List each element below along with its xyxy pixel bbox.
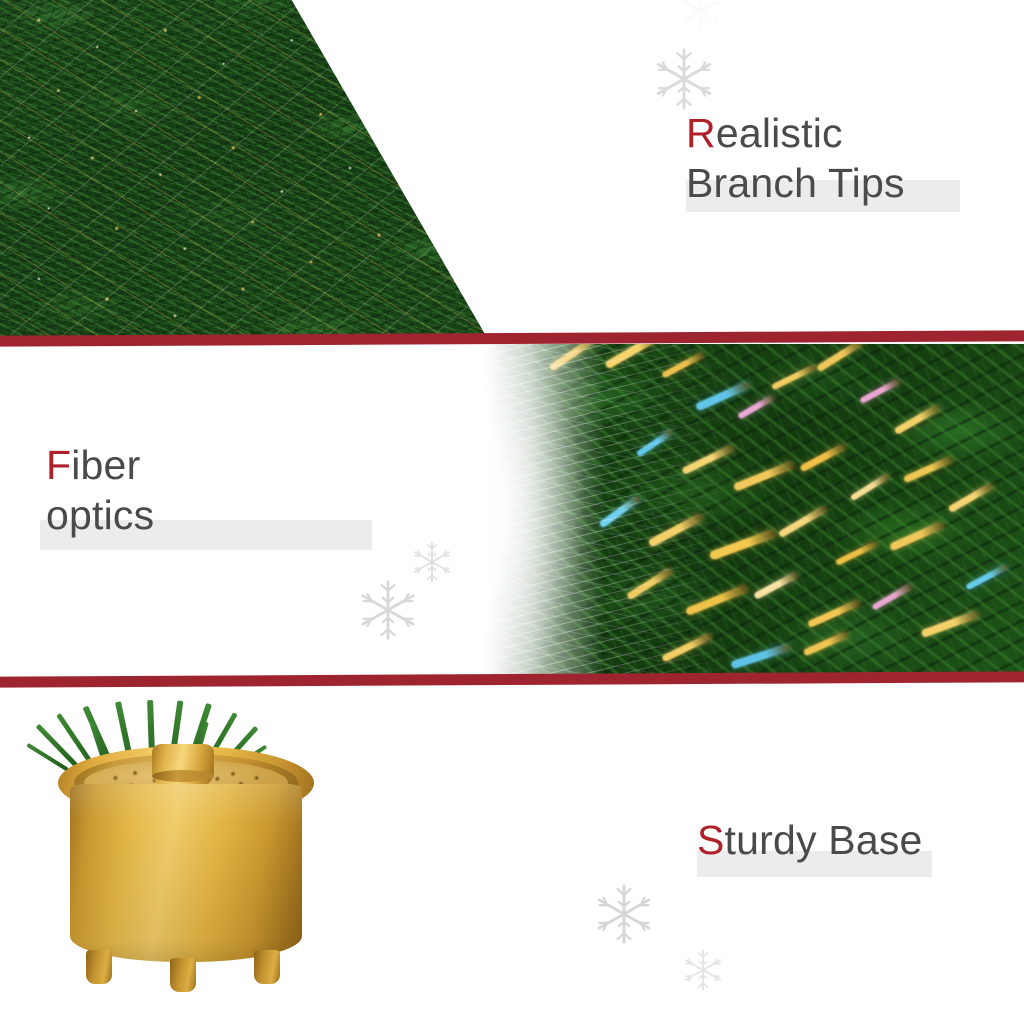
- left-edge-fade: [484, 344, 604, 678]
- caption-line-2: optics: [46, 490, 154, 540]
- fiber-strand: [894, 404, 941, 435]
- base-foot: [86, 950, 112, 984]
- fiber-strand: [948, 482, 995, 513]
- fiber-strand: [889, 521, 945, 552]
- gold-tree-base-photo: [48, 700, 324, 1010]
- base-foot: [254, 950, 280, 984]
- caption-line-1-rest: iber: [71, 442, 140, 488]
- product-feature-collage: Realistic Branch Tips Fiber optics: [0, 0, 1024, 1024]
- fiber-strand: [803, 631, 850, 657]
- fiber-optic-macro-photo: [484, 344, 1024, 678]
- fiber-strand: [799, 443, 846, 473]
- base-cylinder-shading: [70, 784, 302, 962]
- fiber-strand: [859, 378, 901, 404]
- fiber-strand: [816, 344, 864, 372]
- fiber-strand: [920, 610, 979, 638]
- fiber-strand: [871, 583, 912, 610]
- caption-sturdy-base: Sturdy Base: [697, 815, 923, 865]
- caption-line-2: Branch Tips: [686, 158, 905, 208]
- caption-line-1: Sturdy Base: [697, 815, 923, 865]
- caption-initial: S: [697, 817, 725, 863]
- caption-line-1: Fiber: [46, 440, 154, 490]
- caption-line-1: Realistic: [686, 108, 905, 158]
- caption-initial: R: [686, 110, 716, 156]
- caption-fiber-optics: Fiber optics: [46, 440, 154, 540]
- tree-foliage-photo: [0, 0, 486, 336]
- fiber-strand: [835, 540, 879, 566]
- caption-line-1-rest: turdy Base: [725, 817, 923, 863]
- fiber-strand: [965, 564, 1008, 591]
- caption-line-1-rest: ealistic: [716, 110, 843, 156]
- base-center-hub-ring: [152, 770, 214, 782]
- base-foot: [170, 958, 196, 992]
- fiber-tip-sparkle-layer: [0, 0, 486, 336]
- fiber-strand: [807, 599, 861, 628]
- fiber-strand: [903, 456, 953, 484]
- caption-realistic-branch-tips: Realistic Branch Tips: [686, 108, 905, 208]
- fiber-strand: [850, 473, 890, 501]
- caption-initial: F: [46, 442, 71, 488]
- tree-silhouette-mask: [0, 0, 486, 336]
